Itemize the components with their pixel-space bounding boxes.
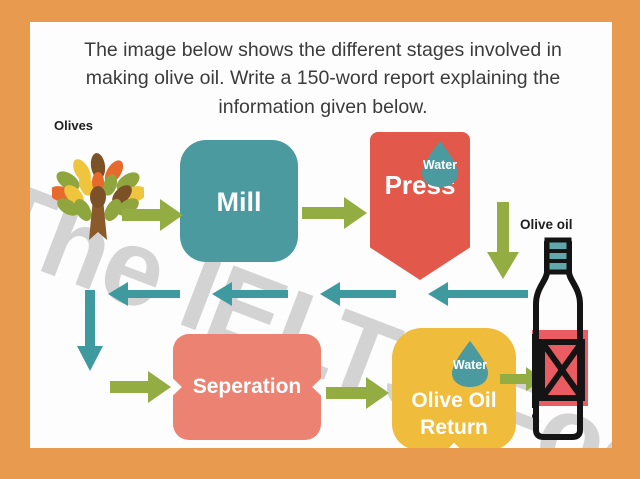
olive-oil-label: Olive oil [520, 217, 573, 232]
water-label-return: Water [438, 358, 502, 372]
page-title: The image below shows the different stag… [68, 36, 578, 121]
node-return-label-line1: Olive Oil [411, 388, 496, 415]
white-content-panel: The IELTS Focus The image below shows th… [30, 22, 612, 448]
node-mill[interactable]: Mill [180, 140, 298, 262]
arrow-return-row [76, 280, 536, 308]
arrow-separation-to-return [326, 376, 390, 410]
node-mill-label: Mill [217, 187, 262, 218]
arrow-press-down [486, 202, 520, 280]
node-separation-label: Seperation [193, 375, 302, 399]
arrow-return-down-left [76, 290, 104, 372]
water-label-press: Water [408, 158, 472, 172]
arrow-olives-to-mill [122, 198, 184, 232]
screenshot-root: The IELTS Focus The image below shows th… [0, 0, 640, 479]
arrow-mill-to-press [302, 196, 368, 230]
water-droplet-press: Water [420, 140, 460, 188]
olive-oil-bottle-icon [522, 234, 594, 440]
arrow-to-separation [110, 370, 172, 404]
water-droplet-return: Water [450, 340, 490, 388]
node-return-label-line2: Return [420, 415, 488, 442]
node-separation[interactable]: Seperation [173, 334, 321, 440]
